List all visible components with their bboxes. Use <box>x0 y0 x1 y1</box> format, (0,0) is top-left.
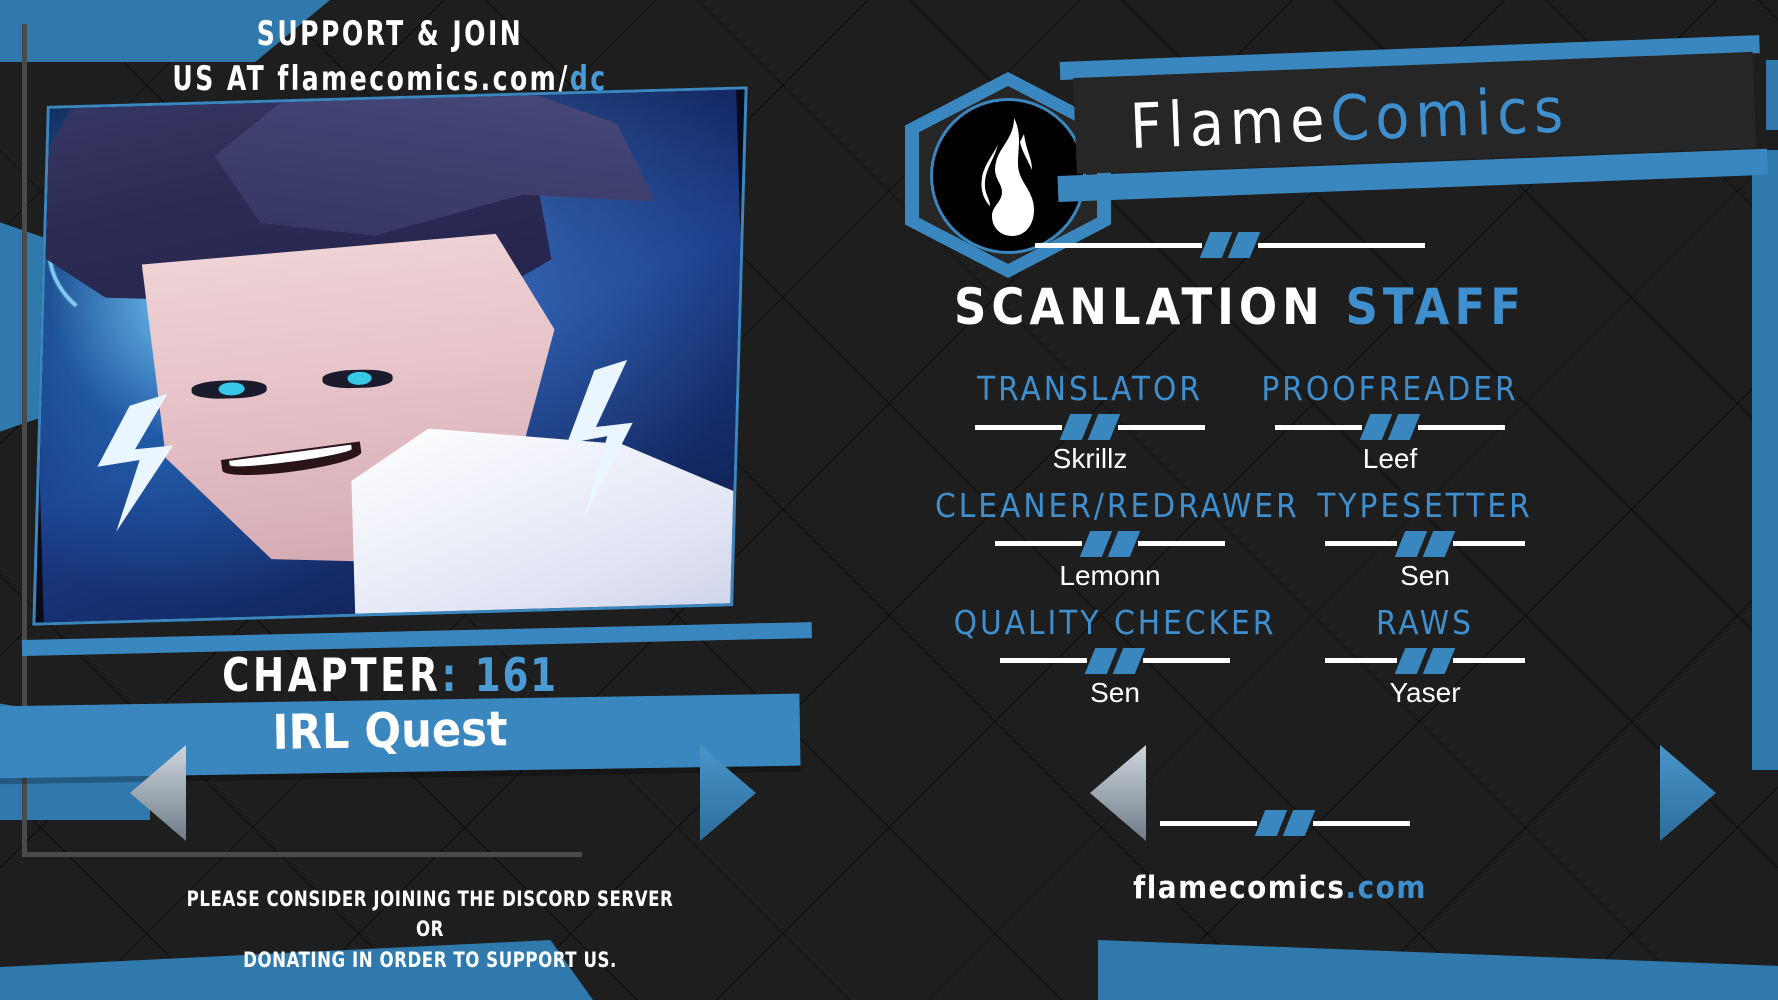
divider-slash-1 <box>1255 810 1288 836</box>
decor-right-vertical-bar-small <box>1766 60 1778 130</box>
divider-line-right <box>1453 541 1525 546</box>
staff-member-name: Sen <box>940 678 1290 709</box>
staff-divider <box>1325 648 1525 674</box>
staff-row: QUALITY CHECKER Sen RAWS Yaser <box>900 606 1580 709</box>
staff-title-white: SCANLATION <box>954 278 1325 336</box>
divider-slash-2 <box>1388 414 1421 440</box>
divider-line-right <box>1118 425 1205 430</box>
divider-line-left <box>1275 425 1362 430</box>
chapter-number: 161 <box>475 648 558 702</box>
staff-credits-grid: TRANSLATOR Skrillz PROOFREADER Leef <box>900 372 1580 722</box>
staff-row: CLEANER/REDRAWER Lemonn TYPESETTER Sen <box>900 489 1580 592</box>
character-eye-right <box>322 369 392 389</box>
artwork-canvas <box>32 86 747 625</box>
chapter-heading: CHAPTER: 161 <box>75 648 705 702</box>
staff-role-label: PROOFREADER <box>1250 372 1530 405</box>
divider-line-left <box>1160 821 1257 826</box>
staff-credit-translator: TRANSLATOR Skrillz <box>940 372 1240 475</box>
staff-divider <box>975 414 1205 440</box>
divider-slash-2 <box>1423 648 1456 674</box>
iris-left <box>219 382 245 395</box>
brand-name-blue: Comics <box>1329 73 1570 155</box>
staff-member-name: Yaser <box>1310 678 1540 709</box>
staff-credit-proofreader: PROOFREADER Leef <box>1240 372 1540 475</box>
divider-line-right <box>1143 658 1230 663</box>
scanlation-credits-page: SUPPORT & JOIN US AT flamecomics.com/dc … <box>0 0 1778 1000</box>
brand-name-white: Flame <box>1129 82 1332 163</box>
divider-slash-2 <box>1283 810 1316 836</box>
staff-credit-typesetter: TYPESETTER Sen <box>1295 489 1555 592</box>
character-eye-left <box>192 379 267 399</box>
flame-icon <box>974 116 1044 238</box>
staff-role-label: CLEANER/REDRAWER <box>935 489 1285 522</box>
chapter-separator: : <box>441 648 458 702</box>
disclaimer-line-1: PLEASE CONSIDER JOINING THE DISCORD SERV… <box>184 884 677 945</box>
divider-slash-2 <box>1423 531 1456 557</box>
staff-divider <box>1325 531 1525 557</box>
divider-slash-2 <box>1108 531 1141 557</box>
character-shirt <box>350 418 748 625</box>
divider-line-right <box>1418 425 1505 430</box>
divider-slash-1 <box>1200 232 1233 258</box>
staff-credit-cleaner-redrawer: CLEANER/REDRAWER Lemonn <box>925 489 1295 592</box>
staff-title-blue: STAFF <box>1345 278 1526 336</box>
staff-divider <box>1000 648 1230 674</box>
staff-divider <box>995 531 1225 557</box>
manga-panel-artwork <box>32 86 747 625</box>
divider-slash-1 <box>1395 648 1428 674</box>
frame-bottom-border <box>22 852 582 857</box>
staff-section-divider <box>1035 232 1425 258</box>
iris-right <box>347 372 371 385</box>
staff-divider <box>1275 414 1505 440</box>
divider-slash-1 <box>1080 531 1113 557</box>
disclaimer-line-2: DONATING IN ORDER TO SUPPORT US. <box>184 945 677 975</box>
chapter-label: CHAPTER <box>222 648 441 702</box>
support-line-1: SUPPORT & JOIN <box>103 12 677 57</box>
staff-role-label: RAWS <box>1310 606 1540 639</box>
staff-member-name: Lemonn <box>935 561 1285 592</box>
support-join-text: SUPPORT & JOIN US AT flamecomics.com/dc <box>103 12 677 102</box>
staff-member-name: Leef <box>1250 444 1530 475</box>
footer-website: flamecomics.com <box>1000 870 1560 906</box>
divider-line-left <box>995 541 1082 546</box>
divider-line-left <box>975 425 1062 430</box>
character-mouth <box>221 442 363 481</box>
staff-role-label: TRANSLATOR <box>950 372 1230 405</box>
divider-slash-1 <box>1085 648 1118 674</box>
divider-slash-2 <box>1088 414 1121 440</box>
staff-row: TRANSLATOR Skrillz PROOFREADER Leef <box>900 372 1580 475</box>
decor-right-vertical-bar <box>1752 150 1778 770</box>
staff-role-label: TYPESETTER <box>1305 489 1545 522</box>
divider-slash-1 <box>1395 531 1428 557</box>
divider-line-left <box>1035 243 1202 248</box>
divider-slash-2 <box>1113 648 1146 674</box>
chapter-title: IRL Quest <box>40 698 741 765</box>
disclaimer-text: PLEASE CONSIDER JOINING THE DISCORD SERV… <box>184 884 677 975</box>
divider-slash-2 <box>1228 232 1261 258</box>
divider-line-right <box>1258 243 1425 248</box>
divider-line-left <box>1325 658 1397 663</box>
staff-credit-raws: RAWS Yaser <box>1300 606 1550 709</box>
staff-role-label: QUALITY CHECKER <box>940 606 1290 639</box>
divider-line-right <box>1453 658 1525 663</box>
footer-site-name: flamecomics <box>1133 870 1345 906</box>
divider-slash-1 <box>1060 414 1093 440</box>
staff-member-name: Skrillz <box>950 444 1230 475</box>
divider-line-left <box>1000 658 1087 663</box>
divider-slash-1 <box>1360 414 1393 440</box>
divider-line-left <box>1325 541 1397 546</box>
staff-section-title: SCANLATION STAFF <box>920 278 1560 336</box>
staff-credit-quality-checker: QUALITY CHECKER Sen <box>930 606 1300 709</box>
footer-site-tld: .com <box>1346 870 1427 906</box>
divider-line-right <box>1313 821 1410 826</box>
staff-member-name: Sen <box>1305 561 1545 592</box>
divider-line-right <box>1138 541 1225 546</box>
footer-divider <box>1160 810 1410 836</box>
